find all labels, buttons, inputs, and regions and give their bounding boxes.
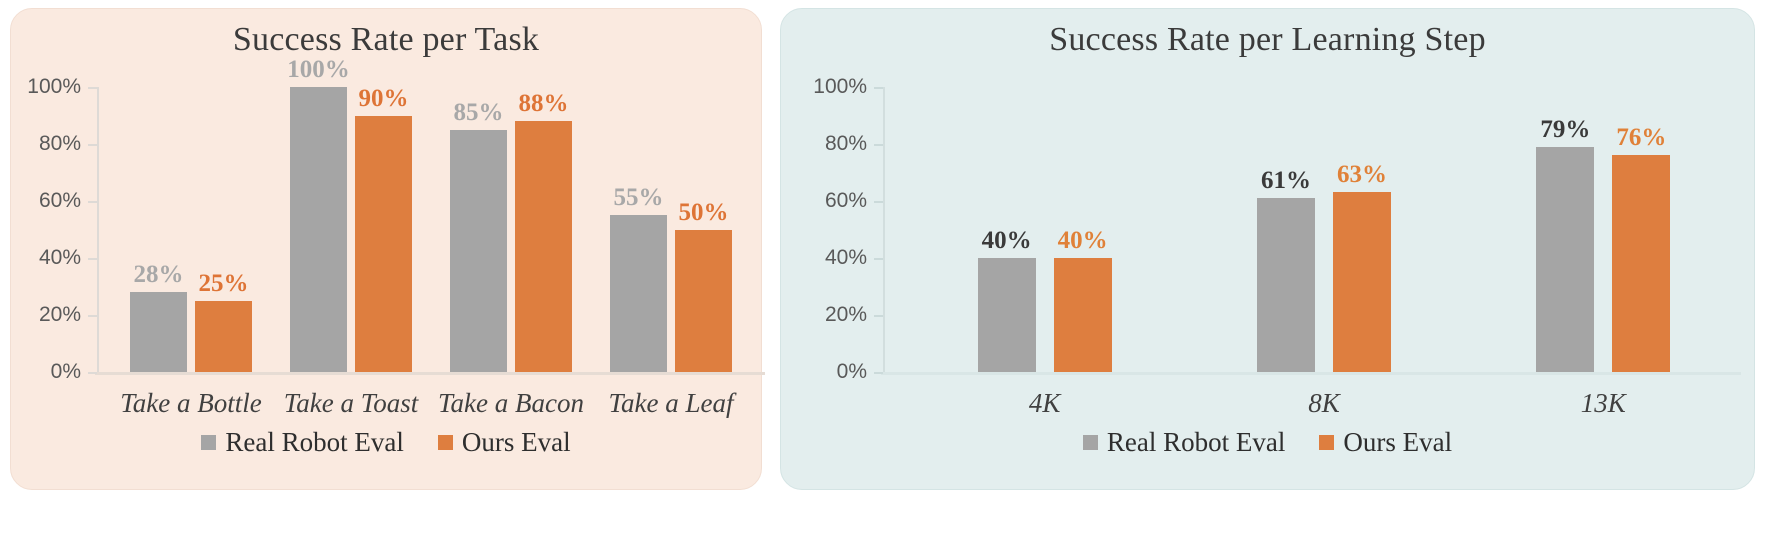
bar-real-robot-eval: 61%	[1257, 198, 1315, 372]
y-axis-tick	[874, 315, 883, 317]
y-axis-tick-label: 40%	[39, 246, 81, 270]
chart-panel-success-rate-per-task: Success Rate per Task 0%20%40%60%80%100%…	[10, 8, 762, 490]
y-axis-tick-label: 20%	[39, 303, 81, 327]
y-axis-tick	[874, 201, 883, 203]
bar-ours-eval: 25%	[195, 301, 252, 372]
chart-title: Success Rate per Learning Step	[781, 21, 1754, 59]
bar-value-label: 40%	[1058, 228, 1108, 253]
x-axis-category-label: 8K	[1308, 388, 1340, 419]
bar-value-label: 28%	[134, 262, 184, 287]
legend-swatch-icon	[201, 435, 216, 450]
bar-group: 79%76%13K	[1442, 87, 1721, 372]
bar-real-robot-eval: 55%	[610, 215, 667, 372]
bar-value-label: 63%	[1337, 162, 1387, 187]
x-axis-category-label: 13K	[1581, 388, 1626, 419]
y-axis-tick	[88, 372, 97, 374]
y-axis-tick	[88, 315, 97, 317]
bar-ours-eval: 50%	[675, 230, 732, 373]
bar-value-label: 40%	[982, 228, 1032, 253]
bar-value-label: 50%	[679, 200, 729, 225]
bar-group: 28%25%Take a Bottle	[97, 87, 257, 372]
chart-panel-success-rate-per-learning-step: Success Rate per Learning Step 0%20%40%6…	[780, 8, 1755, 490]
y-axis-tick-label: 100%	[813, 75, 867, 99]
legend-item-ours-eval: Ours Eval	[438, 427, 571, 458]
y-axis-tick	[88, 201, 97, 203]
bar-value-label: 55%	[614, 185, 664, 210]
y-axis-tick-label: 100%	[27, 75, 81, 99]
bar-ours-eval: 90%	[355, 116, 412, 373]
bar-ours-eval: 40%	[1054, 258, 1112, 372]
bar-value-label: 90%	[359, 86, 409, 111]
bar-real-robot-eval: 28%	[130, 292, 187, 372]
bar-group: 100%90%Take a Toast	[257, 87, 417, 372]
y-axis-tick-label: 0%	[51, 360, 81, 384]
y-axis-tick-label: 0%	[837, 360, 867, 384]
y-axis-tick	[874, 87, 883, 89]
legend-item-real-robot-eval: Real Robot Eval	[201, 427, 403, 458]
y-axis-tick	[88, 258, 97, 260]
x-axis-category-label: Take a Leaf	[608, 388, 733, 419]
bar-real-robot-eval: 79%	[1536, 147, 1594, 372]
x-axis-baseline	[881, 372, 1741, 375]
bar-ours-eval: 63%	[1333, 192, 1391, 372]
legend-label: Ours Eval	[1343, 427, 1452, 458]
x-axis-category-label: Take a Toast	[284, 388, 419, 419]
y-axis-tick	[874, 144, 883, 146]
x-axis-category-label: Take a Bottle	[120, 388, 262, 419]
y-axis-tick-label: 20%	[825, 303, 867, 327]
bar-group: 40%40%4K	[883, 87, 1162, 372]
legend-item-real-robot-eval: Real Robot Eval	[1083, 427, 1285, 458]
bar-ours-eval: 76%	[1612, 155, 1670, 372]
plot-area: 0%20%40%60%80%100%28%25%Take a Bottle100…	[97, 87, 737, 372]
y-axis-tick-label: 40%	[825, 246, 867, 270]
bar-real-robot-eval: 40%	[978, 258, 1036, 372]
bar-value-label: 25%	[199, 271, 249, 296]
bar-value-label: 61%	[1261, 168, 1311, 193]
legend-label: Real Robot Eval	[225, 427, 403, 458]
figure-container: Success Rate per Task 0%20%40%60%80%100%…	[0, 0, 1774, 550]
bar-group: 61%63%8K	[1162, 87, 1441, 372]
bar-value-label: 85%	[454, 100, 504, 125]
bar-group: 85%88%Take a Bacon	[417, 87, 577, 372]
bar-value-label: 76%	[1616, 125, 1666, 150]
y-axis-tick	[874, 258, 883, 260]
y-axis-tick	[88, 144, 97, 146]
plot-area: 0%20%40%60%80%100%40%40%4K61%63%8K79%76%…	[883, 87, 1721, 372]
bar-real-robot-eval: 100%	[290, 87, 347, 372]
x-axis-category-label: 4K	[1029, 388, 1061, 419]
bar-value-label: 88%	[519, 91, 569, 116]
legend-label: Real Robot Eval	[1107, 427, 1285, 458]
bar-value-label: 79%	[1540, 117, 1590, 142]
x-axis-category-label: Take a Bacon	[438, 388, 584, 419]
y-axis-tick-label: 80%	[825, 132, 867, 156]
y-axis-tick-label: 60%	[39, 189, 81, 213]
bar-value-label: 100%	[287, 57, 350, 82]
bar-real-robot-eval: 85%	[450, 130, 507, 372]
legend-swatch-icon	[438, 435, 453, 450]
bar-ours-eval: 88%	[515, 121, 572, 372]
y-axis-tick-label: 80%	[39, 132, 81, 156]
legend-swatch-icon	[1083, 435, 1098, 450]
chart-title: Success Rate per Task	[11, 21, 761, 59]
y-axis-tick-label: 60%	[825, 189, 867, 213]
y-axis-tick	[874, 372, 883, 374]
bar-group: 55%50%Take a Leaf	[577, 87, 737, 372]
x-axis-baseline	[95, 372, 765, 375]
chart-legend: Real Robot Eval Ours Eval	[11, 427, 761, 458]
legend-swatch-icon	[1319, 435, 1334, 450]
legend-label: Ours Eval	[462, 427, 571, 458]
chart-legend: Real Robot Eval Ours Eval	[781, 427, 1754, 458]
y-axis-tick	[88, 87, 97, 89]
legend-item-ours-eval: Ours Eval	[1319, 427, 1452, 458]
